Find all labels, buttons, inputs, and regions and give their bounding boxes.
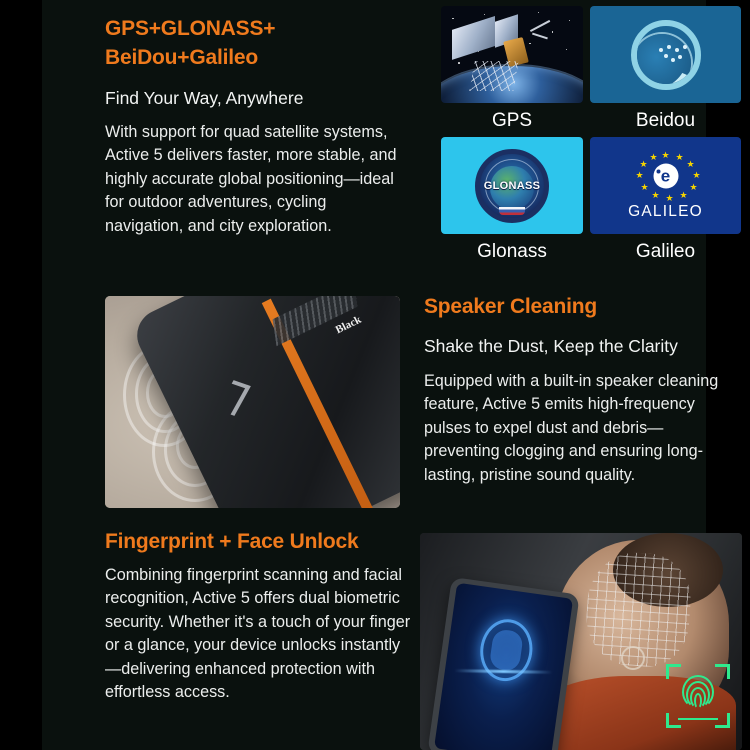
speaker-body: Equipped with a built-in speaker cleanin… xyxy=(424,370,724,487)
product-feature-page: GPS+GLONASS+ BeiDou+Galileo Find Your Wa… xyxy=(0,0,750,750)
glonass-logo-icon: GLONASS xyxy=(441,137,583,234)
satellite-label-galileo: Galileo xyxy=(590,234,741,265)
biometrics-heading: Fingerprint + Face Unlock xyxy=(105,527,415,556)
satellite-label-beidou: Beidou xyxy=(590,103,741,134)
gps-satellite-icon xyxy=(441,6,583,103)
galileo-logo-icon: ★ ★ ★ ★ ★ ★ ★ ★ ★ ★ ★ ★ e xyxy=(590,137,741,234)
satellite-row-1: GPS xyxy=(441,6,741,134)
speaker-heading: Speaker Cleaning xyxy=(424,292,724,321)
gnss-heading-line2: BeiDou+Galileo xyxy=(105,43,405,72)
satellite-label-glonass: Glonass xyxy=(441,234,583,265)
fingerprint-scanner-icon xyxy=(666,664,730,728)
speaker-cleaning-image: Black xyxy=(105,296,400,508)
speaker-text-block: Speaker Cleaning Shake the Dust, Keep th… xyxy=(424,292,724,487)
content-canvas: GPS+GLONASS+ BeiDou+Galileo Find Your Wa… xyxy=(42,0,706,750)
biometrics-text-block: Fingerprint + Face Unlock Combining fing… xyxy=(105,527,415,704)
gnss-body: With support for quad satellite systems,… xyxy=(105,121,405,238)
gnss-heading: GPS+GLONASS+ BeiDou+Galileo xyxy=(105,14,405,72)
gnss-subheading: Find Your Way, Anywhere xyxy=(105,86,405,110)
face-unlock-image xyxy=(420,533,742,750)
glonass-wordmark: GLONASS xyxy=(484,180,541,192)
biometrics-body: Combining fingerprint scanning and facia… xyxy=(105,564,415,704)
satellite-row-2: GLONASS Glonass ★ ★ ★ ★ ★ xyxy=(441,137,741,265)
satellite-cell-gps: GPS xyxy=(441,6,583,134)
beidou-logo-icon xyxy=(590,6,741,103)
gnss-text-block: GPS+GLONASS+ BeiDou+Galileo Find Your Wa… xyxy=(105,14,405,238)
satellite-cell-galileo: ★ ★ ★ ★ ★ ★ ★ ★ ★ ★ ★ ★ e xyxy=(590,137,741,265)
speaker-subheading: Shake the Dust, Keep the Clarity xyxy=(424,334,724,358)
satellite-systems-grid: GPS xyxy=(441,6,741,265)
satellite-cell-beidou: Beidou xyxy=(590,6,741,134)
galileo-center-letter: e xyxy=(653,163,678,188)
galileo-wordmark: GALILEO xyxy=(628,203,703,221)
satellite-cell-glonass: GLONASS Glonass xyxy=(441,137,583,265)
gnss-heading-line1: GPS+GLONASS+ xyxy=(105,14,405,43)
satellite-label-gps: GPS xyxy=(441,103,583,134)
